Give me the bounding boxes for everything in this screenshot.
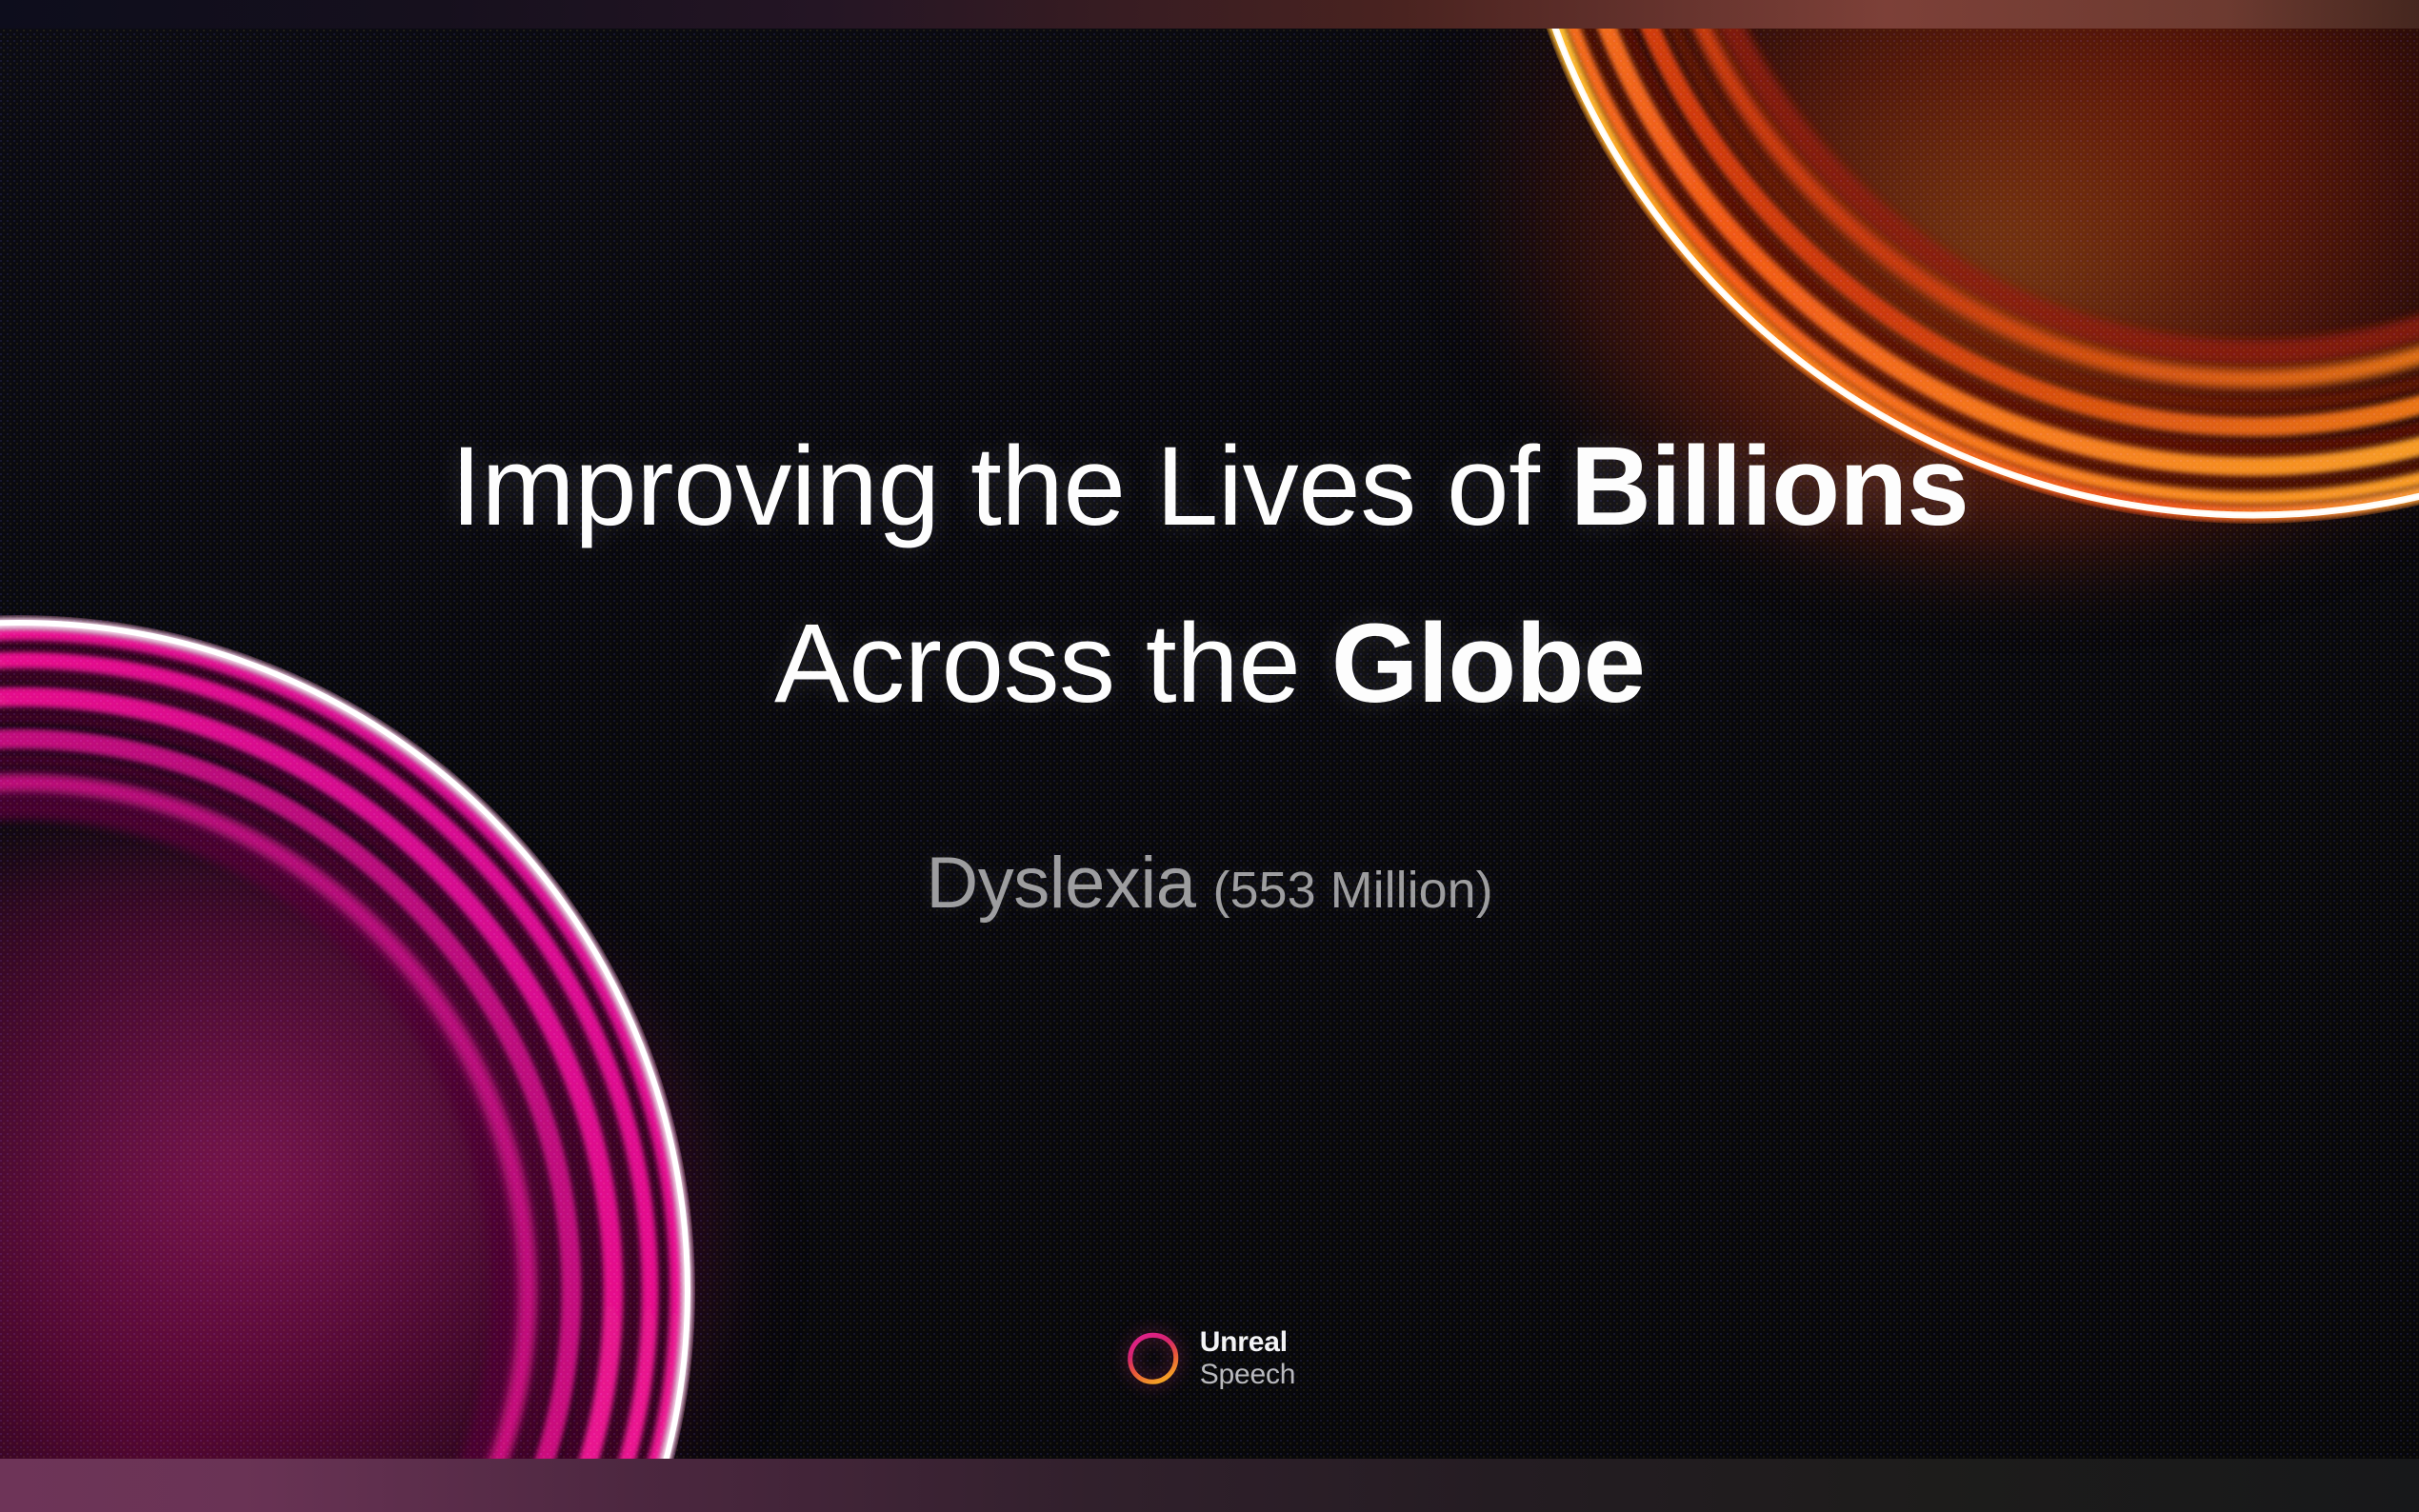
unreal-speech-ring-icon xyxy=(1124,1329,1183,1388)
subtitle-count: (553 Million) xyxy=(1213,862,1493,919)
headline-line-2: Across the Globe xyxy=(171,607,2248,720)
presentation-slide: Improving the Lives of Billions Across t… xyxy=(0,0,2419,1512)
headline-line-1-emphasis: Billions xyxy=(1570,424,1969,549)
headline-line-2-emphasis: Globe xyxy=(1331,601,1645,726)
subtitle: Dyslexia(553 Million) xyxy=(926,842,1492,925)
brand-logo: Unreal Speech xyxy=(1124,1326,1296,1390)
subtitle-condition: Dyslexia xyxy=(926,843,1195,924)
bottom-edge-band xyxy=(0,1459,2419,1512)
page-title: Improving the Lives of Billions Across t… xyxy=(171,430,2248,720)
headline-line-2-light: Across the xyxy=(774,601,1331,726)
brand-name-top: Unreal xyxy=(1200,1326,1296,1359)
headline-line-1: Improving the Lives of Billions xyxy=(171,430,2248,543)
slide-content: Improving the Lives of Billions Across t… xyxy=(0,0,2419,1512)
top-edge-band xyxy=(0,0,2419,29)
headline-line-1-light: Improving the Lives of xyxy=(450,424,1570,549)
brand-logo-text: Unreal Speech xyxy=(1200,1326,1296,1390)
brand-name-bottom: Speech xyxy=(1200,1359,1296,1391)
